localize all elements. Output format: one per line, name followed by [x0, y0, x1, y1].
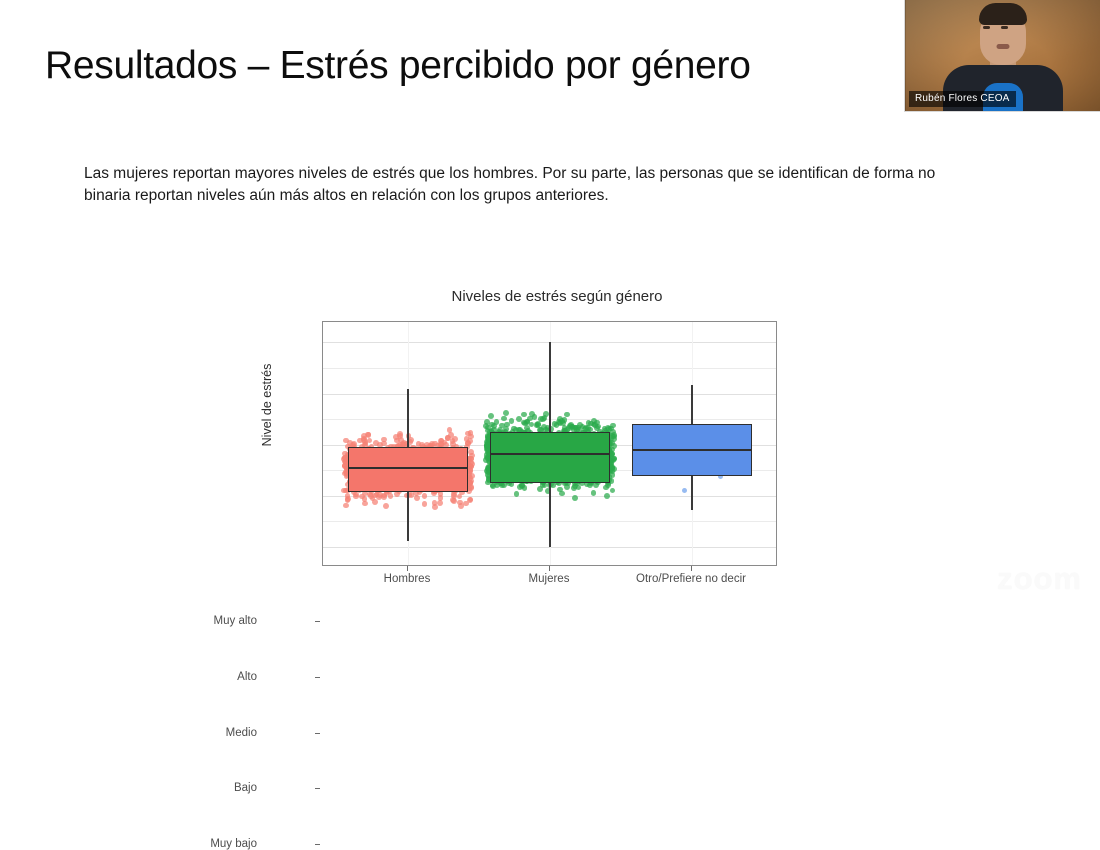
jitter-point — [372, 499, 378, 505]
y-tick-mark — [315, 621, 320, 622]
jitter-point — [422, 501, 428, 507]
slide-canvas: Resultados – Estrés percibido por género… — [0, 0, 1100, 619]
jitter-point — [550, 483, 556, 489]
y-tick-label-medio: Medio — [137, 727, 257, 739]
y-tick-mark — [315, 677, 320, 678]
slide-body-text: Las mujeres reportan mayores niveles de … — [84, 163, 984, 207]
jitter-point — [610, 488, 616, 494]
person-eye-left — [983, 26, 990, 29]
person-mouth — [996, 44, 1009, 49]
jitter-point — [343, 503, 349, 509]
y-tick-mark — [315, 788, 320, 789]
x-tick-label-otro: Otro/Prefiere no decir — [601, 573, 781, 585]
jitter-point — [343, 438, 349, 444]
box-median-line — [632, 449, 752, 451]
person-hair — [979, 3, 1027, 25]
jitter-point — [609, 464, 615, 470]
box-iqr — [490, 432, 610, 484]
jitter-point — [542, 415, 548, 421]
y-tick-label-alto: Alto — [137, 671, 257, 683]
box-median-line — [490, 453, 610, 455]
jitter-point — [468, 449, 474, 455]
chart-plot-area — [322, 321, 777, 566]
jitter-point — [468, 456, 474, 462]
stress-by-gender-boxplot: Niveles de estrés según género Nivel de … — [255, 288, 795, 588]
page-title: Resultados – Estrés percibido por género — [45, 44, 751, 88]
jitter-point — [585, 425, 591, 431]
x-tick-mark — [407, 566, 408, 571]
jitter-point — [366, 432, 372, 438]
x-tick-mark — [549, 566, 550, 571]
jitter-point — [532, 414, 538, 420]
chart-title: Niveles de estrés según género — [322, 288, 792, 305]
zoom-watermark: zoom — [997, 561, 1082, 597]
jitter-point — [432, 504, 438, 510]
jitter-point — [604, 493, 610, 499]
y-tick-label-muy-bajo: Muy bajo — [137, 838, 257, 850]
jitter-point — [517, 484, 523, 490]
x-tick-mark — [691, 566, 692, 571]
jitter-point — [450, 497, 456, 503]
jitter-point — [488, 413, 494, 419]
jitter-point — [610, 423, 616, 429]
jitter-point — [564, 484, 570, 490]
jitter-point — [572, 495, 578, 501]
y-tick-label-bajo: Bajo — [137, 782, 257, 794]
box-median-line — [348, 467, 468, 469]
y-tick-mark — [315, 844, 320, 845]
jitter-point — [422, 493, 428, 499]
y-tick-label-muy-alto: Muy alto — [137, 615, 257, 627]
y-tick-mark — [315, 733, 320, 734]
participant-name-label: Rubén Flores CEOA — [909, 91, 1016, 107]
person-eye-right — [1001, 26, 1008, 29]
jitter-point — [494, 419, 500, 425]
jitter-point — [353, 494, 359, 500]
jitter-point — [562, 417, 568, 423]
jitter-point — [509, 418, 515, 424]
jitter-point — [501, 416, 507, 422]
jitter-point — [383, 503, 389, 509]
box-iqr — [348, 447, 468, 493]
jitter-point — [388, 493, 394, 499]
chart-y-axis-title: Nivel de estrés — [260, 335, 274, 475]
jitter-point — [682, 488, 687, 493]
jitter-point — [458, 503, 464, 509]
jitter-point — [447, 427, 453, 433]
webcam-video-tile[interactable]: Rubén Flores CEOA — [904, 0, 1100, 112]
